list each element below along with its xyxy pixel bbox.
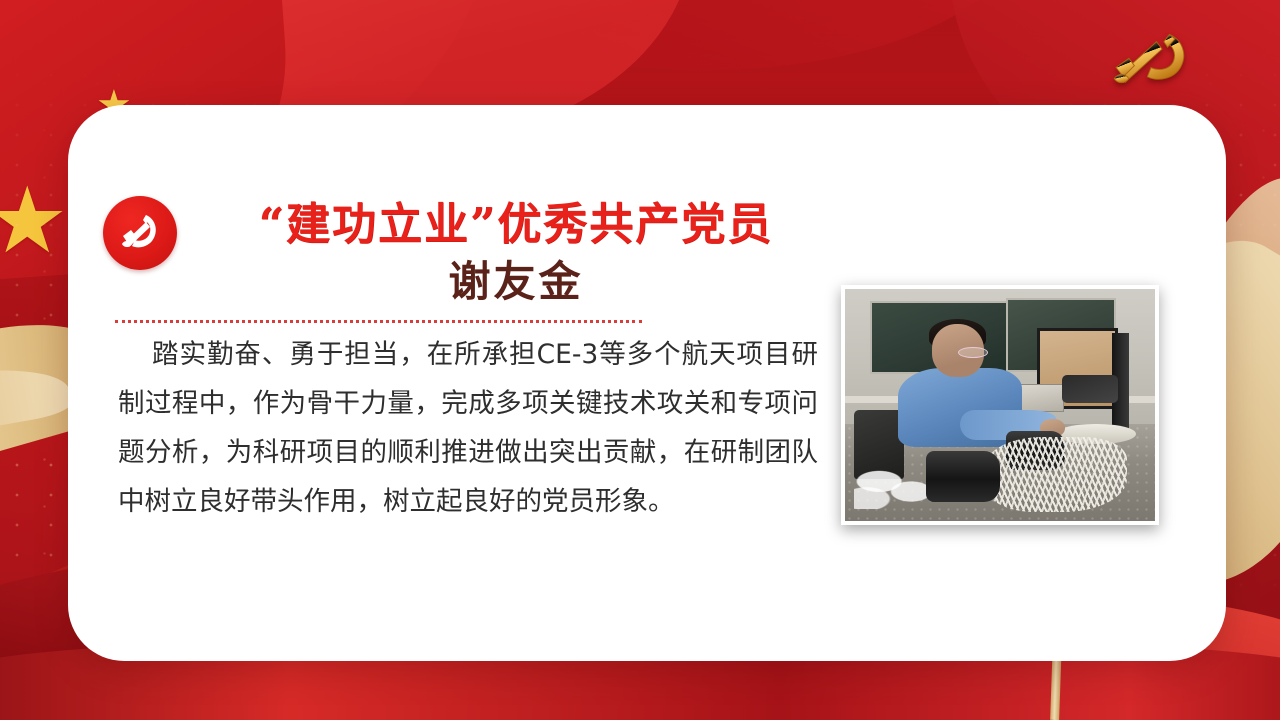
title-block: “建功立业”优秀共产党员 谢友金	[196, 198, 836, 310]
slide-root: ★ ★ ★ ★ ★	[0, 0, 1280, 720]
body-paragraph: 踏实勤奋、勇于担当，在所承担CE-3等多个航天项目研制过程中，作为骨干力量，完成…	[118, 330, 818, 526]
dotted-divider	[115, 320, 642, 323]
photo-cable-bundle	[985, 437, 1128, 511]
person-photo	[841, 285, 1159, 525]
party-emblem-gold-icon	[1104, 27, 1198, 97]
photo-scene	[845, 289, 1155, 521]
page-title: “建功立业”优秀共产党员	[196, 198, 836, 252]
party-emblem-hammer-sickle-icon	[103, 196, 177, 270]
photo-device-front	[926, 451, 1000, 502]
person-name: 谢友金	[196, 254, 836, 310]
photo-microscope-head	[1062, 375, 1118, 403]
